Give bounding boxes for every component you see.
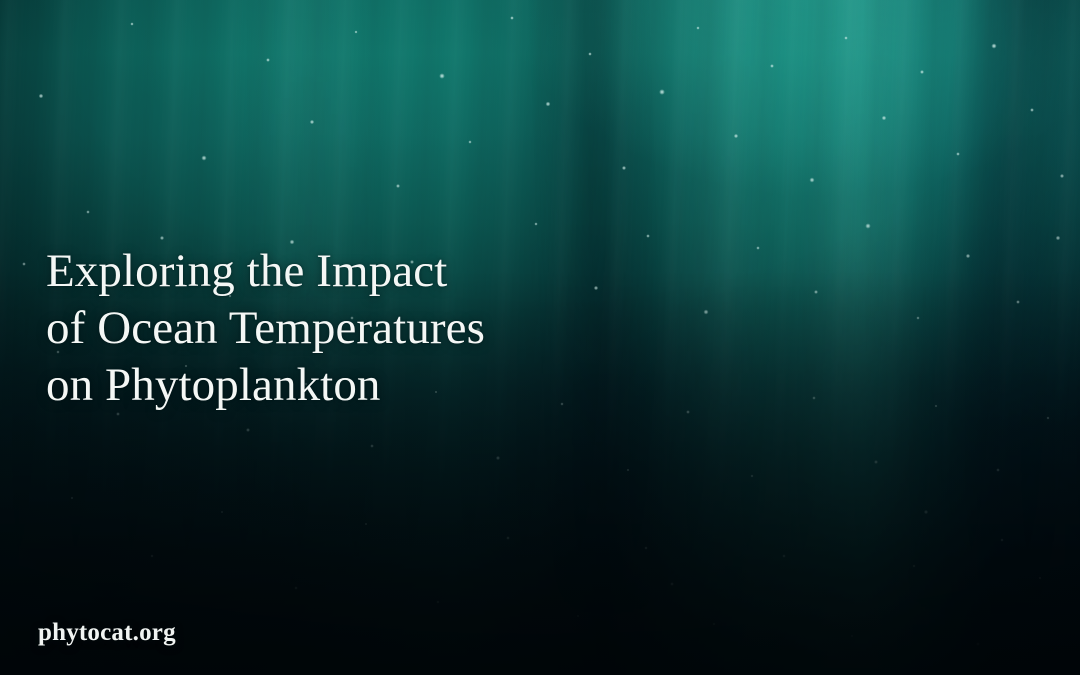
page-title: Exploring the Impact of Ocean Temperatur… bbox=[46, 243, 766, 414]
site-url: phytocat.org bbox=[38, 619, 176, 647]
card-content: Exploring the Impact of Ocean Temperatur… bbox=[0, 0, 1080, 675]
page-title-line-3: on Phytoplankton bbox=[46, 357, 766, 414]
title-card: Exploring the Impact of Ocean Temperatur… bbox=[0, 0, 1080, 675]
page-title-line-1: Exploring the Impact bbox=[46, 243, 766, 300]
page-title-line-2: of Ocean Temperatures bbox=[46, 300, 766, 357]
